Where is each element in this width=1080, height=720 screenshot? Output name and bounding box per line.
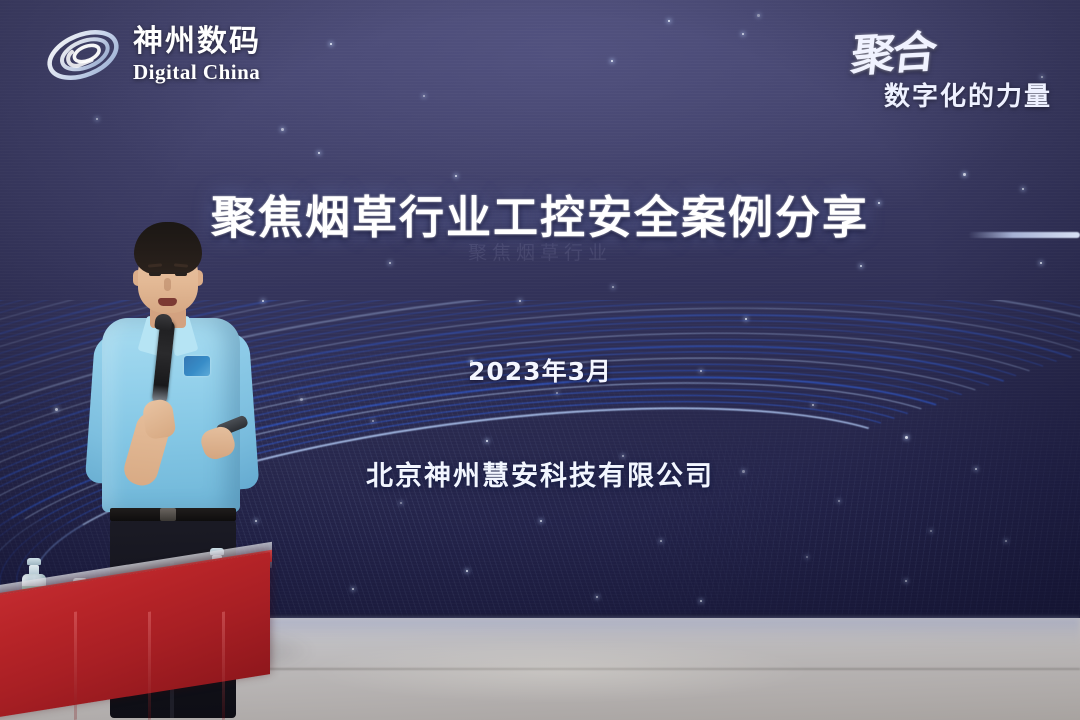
particle-dot: [930, 530, 932, 532]
particle-dot: [757, 14, 760, 17]
event-logo: 聚合 数字化的力量: [852, 18, 1052, 113]
microphone-head-icon: [154, 313, 173, 331]
particle-dot: [330, 43, 332, 45]
presenter-nose: [164, 278, 171, 291]
presenter-belt-buckle: [160, 508, 176, 521]
company-logo-patch-icon: [184, 356, 210, 376]
brand-name-cn: 神州数码: [133, 27, 261, 57]
particle-dot: [540, 520, 542, 522]
particle-dot: [556, 392, 558, 394]
bottle-cap: [27, 558, 41, 565]
particle-dot: [55, 408, 58, 411]
brand-name-en: Digital China: [133, 62, 261, 83]
particle-dot: [745, 318, 747, 320]
particle-dot: [281, 128, 284, 131]
particle-dot: [1005, 540, 1007, 542]
particle-dot: [963, 173, 966, 176]
particle-dot: [466, 570, 468, 572]
table-cloth-fold: [74, 612, 77, 720]
particle-dot: [905, 580, 907, 582]
particle-dot: [486, 440, 488, 442]
presenter-eye-right: [175, 272, 187, 276]
presenter-eye-left: [149, 272, 161, 276]
conference-stage-photo: 神州数码 Digital China 聚合 数字化的力量 聚焦烟草行业 聚焦烟草…: [0, 0, 1080, 720]
particle-dot: [400, 502, 402, 504]
table-cloth-fold: [148, 612, 151, 720]
particle-dot: [905, 436, 908, 439]
particle-dot: [660, 540, 662, 542]
event-calligraphy: 聚合: [848, 16, 937, 84]
particle-dot: [96, 118, 98, 120]
particle-dot: [668, 20, 670, 22]
particle-dot: [300, 398, 303, 401]
particle-dot: [806, 556, 808, 558]
particle-dot: [700, 600, 702, 602]
particle-dot: [318, 152, 320, 154]
presenter-hair: [134, 222, 202, 274]
particle-dot: [611, 60, 613, 62]
bottle-neck: [29, 565, 39, 574]
particle-dot: [860, 265, 862, 267]
digital-china-swirl-logo-icon: [44, 22, 122, 88]
particle-dot: [372, 420, 374, 422]
particle-dot: [455, 175, 457, 177]
particle-dot: [596, 596, 598, 598]
particle-dot: [812, 404, 814, 406]
particle-dot: [423, 95, 425, 97]
particle-dot: [612, 286, 614, 288]
particle-dot: [742, 33, 744, 35]
table-cloth-fold: [222, 612, 225, 720]
digital-china-logo: 神州数码 Digital China: [44, 22, 261, 88]
particle-dot: [519, 300, 521, 302]
presenter-mouth: [158, 298, 177, 306]
particle-dot: [838, 500, 840, 502]
particle-dot: [262, 300, 264, 302]
particle-dot: [352, 588, 354, 590]
